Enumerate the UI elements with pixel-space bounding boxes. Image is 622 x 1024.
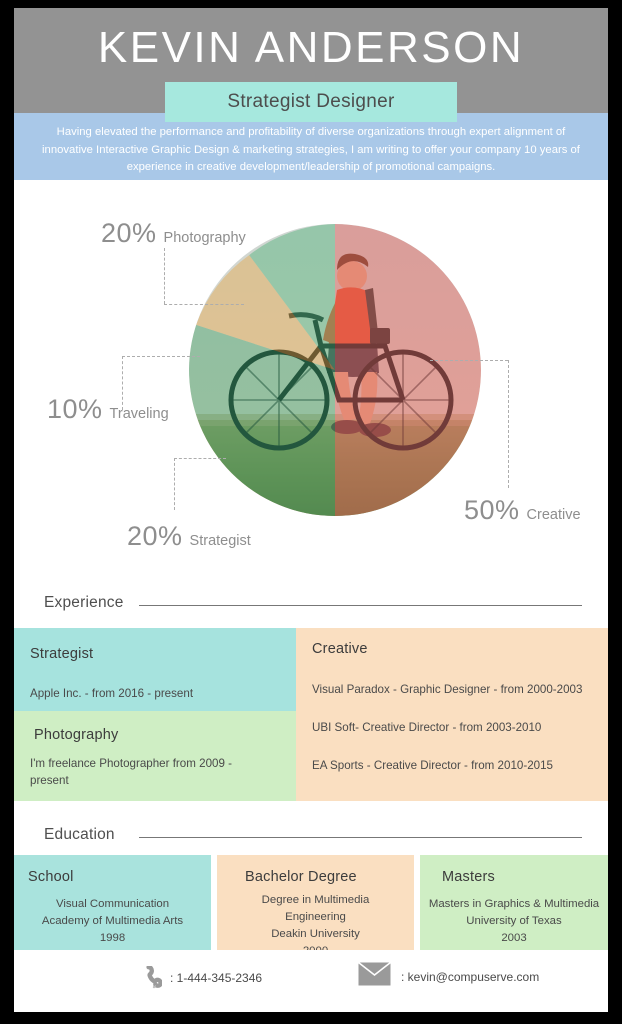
leader-line-strategist [174, 458, 226, 510]
education-title-masters: Masters [442, 869, 600, 885]
pie-name-traveling: Traveling [110, 406, 169, 422]
envelope-icon [358, 962, 391, 986]
education-section-label: Education [44, 826, 115, 844]
experience-detail-creative-2: UBI Soft- Creative Director - from 2003-… [312, 719, 592, 736]
contact-phone[interactable]: : 1-444-345-2346 [142, 966, 262, 990]
experience-section-label: Experience [44, 594, 124, 612]
education-masters-line-1: Masters in Graphics & Multimedia [428, 896, 600, 913]
pie-percent-traveling: 10% [47, 394, 103, 424]
pie-name-creative: Creative [527, 507, 581, 523]
experience-block-photography: Photography I'm freelance Photographer f… [14, 711, 296, 801]
education-card-school: School Visual Communication Academy of M… [14, 855, 211, 952]
intro-paragraph: Having elevated the performance and prof… [30, 124, 592, 177]
resume-infographic: KEVIN ANDERSON Strategist Designer Havin… [0, 0, 622, 1024]
education-school-line-3: 1998 [28, 930, 197, 947]
leader-line-creative [430, 360, 508, 488]
phone-number: : 1-444-345-2346 [170, 971, 262, 985]
experience-title-creative: Creative [312, 641, 592, 657]
experience-detail-strategist: Apple Inc. - from 2016 - present [30, 685, 280, 702]
phone-icon [142, 966, 162, 990]
experience-block-creative: Creative Visual Paradox - Graphic Design… [296, 628, 608, 801]
job-title-badge: Strategist Designer [165, 82, 457, 122]
skills-pie-chart: 20%Photography 10%Traveling 20%Strategis… [14, 180, 608, 580]
education-card-bachelor: Bachelor Degree Degree in Multimedia Eng… [217, 855, 414, 952]
pie-label-strategist: 20%Strategist [127, 521, 251, 552]
experience-title-strategist: Strategist [30, 646, 280, 662]
education-card-masters: Masters Masters in Graphics & Multimedia… [420, 855, 608, 952]
education-section-rule [139, 837, 582, 838]
education-body-school: Visual Communication Academy of Multimed… [28, 896, 197, 947]
pie-percent-photography: 20% [101, 218, 157, 248]
education-body-masters: Masters in Graphics & Multimedia Univers… [428, 896, 600, 947]
email-address: : kevin@compuserve.com [401, 970, 539, 986]
experience-section-rule [139, 605, 582, 606]
page-title: KEVIN ANDERSON [14, 22, 608, 74]
page-sheet: KEVIN ANDERSON Strategist Designer Havin… [14, 8, 608, 1012]
experience-section-header: Experience [14, 594, 608, 624]
experience-block-strategist: Strategist Apple Inc. - from 2016 - pres… [14, 628, 296, 711]
education-section-header: Education [14, 826, 608, 856]
pie-label-creative: 50%Creative [464, 495, 581, 526]
education-school-line-1: Visual Communication [28, 896, 197, 913]
experience-detail-photography: I'm freelance Photographer from 2009 - p… [30, 755, 245, 789]
pie-percent-strategist: 20% [127, 521, 183, 551]
pie-percent-creative: 50% [464, 495, 520, 525]
job-title-label: Strategist Designer [227, 91, 394, 113]
education-masters-line-3: 2003 [428, 930, 600, 947]
contact-email[interactable]: : kevin@compuserve.com [358, 962, 539, 986]
pie-label-traveling: 10%Traveling [47, 394, 169, 425]
education-bachelor-line-1: Degree in Multimedia Engineering [231, 892, 400, 926]
experience-title-photography: Photography [34, 727, 280, 743]
education-title-school: School [28, 869, 197, 885]
pie-label-photography: 20%Photography [101, 218, 246, 249]
education-title-bachelor: Bachelor Degree [245, 869, 400, 885]
experience-detail-creative-1: Visual Paradox - Graphic Designer - from… [312, 681, 592, 698]
pie-name-strategist: Strategist [190, 533, 251, 549]
education-bachelor-line-2: Deakin University [231, 926, 400, 943]
pie-name-photography: Photography [164, 230, 246, 246]
leader-line-photography [164, 248, 244, 304]
education-masters-line-2: University of Texas [428, 913, 600, 930]
education-school-line-2: Academy of Multimedia Arts [28, 913, 197, 930]
contact-footer: : 1-444-345-2346 : kevin@compuserve.com [14, 950, 608, 1012]
experience-detail-creative-3: EA Sports - Creative Director - from 201… [312, 757, 592, 774]
